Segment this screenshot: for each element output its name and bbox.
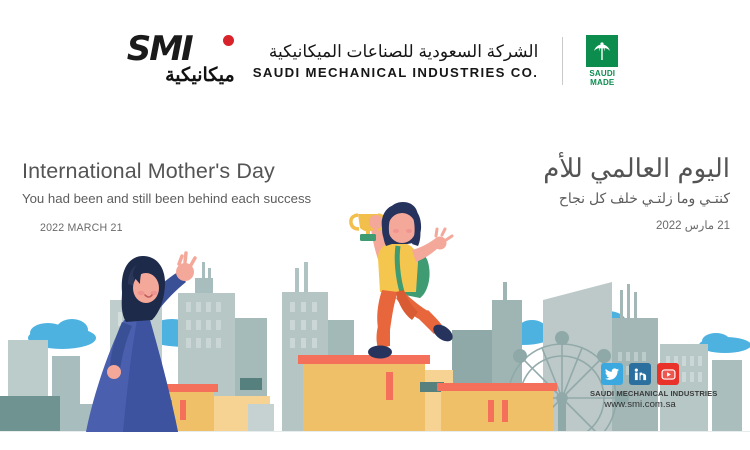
antenna [304,262,308,294]
social-website[interactable]: www.smi.com.sa [590,399,690,410]
antenna [627,284,630,320]
saudi-made-badge: SAUDI MADE [581,35,623,87]
social-icon-row [590,363,690,385]
company-name-block: الشركة السعودية للصناعات الميكانيكية SAU… [247,41,551,82]
building [303,362,425,432]
antenna [634,292,637,320]
window-group [386,372,393,400]
social-block: SAUDI MECHANICAL INDUSTRIES www.smi.com.… [590,363,690,410]
twitter-icon[interactable] [601,363,623,385]
smi-logo-text: SMI [127,33,235,66]
smi-logo-arabic: ميكانيكية [127,64,235,88]
palm-tree-icon [586,35,618,67]
saudi-made-line1: SAUDI [589,69,615,78]
saudi-made-line2: MADE [590,78,614,87]
header-divider [562,37,563,85]
antenna [202,262,205,282]
social-company-name: SAUDI MECHANICAL INDUSTRIES [590,389,690,398]
roof [298,355,430,364]
antenna [295,268,299,294]
building [0,396,60,432]
english-text-block: International Mother's Day You had been … [22,158,352,234]
smi-logo-mark: SMI ميكانيكية [127,33,235,89]
poster-canvas: SMI ميكانيكية الشركة السعودية للصناعات ا… [0,0,750,450]
smi-logo-dot [223,35,234,46]
company-name-english: SAUDI MECHANICAL INDUSTRIES CO. [253,64,539,82]
antenna [620,290,623,320]
english-title: International Mother's Day [22,158,352,184]
english-date: 2022 MARCH 21 [40,222,352,234]
arabic-date: 21 مارس 2022 [400,218,730,232]
english-subtitle: You had been and still been behind each … [22,190,352,208]
roof [437,383,557,391]
brand-header: SMI ميكانيكية الشركة السعودية للصناعات ا… [0,30,750,92]
building [441,390,553,432]
building [248,404,274,432]
antenna [208,268,211,284]
saudi-made-label: SAUDI MADE [589,69,615,87]
youtube-icon[interactable] [657,363,679,385]
rooftop-unit [240,378,262,390]
antenna [503,282,507,302]
linkedin-icon[interactable] [629,363,651,385]
arabic-text-block: اليوم العالمي للأم كنتـي وما زلتـي خلف ك… [400,152,730,232]
arabic-subtitle: كنتـي وما زلتـي خلف كل نجاح [400,188,730,208]
company-name-arabic: الشركة السعودية للصناعات الميكانيكية [253,41,539,63]
window-group [290,302,317,348]
bottom-white-band [0,432,750,450]
arabic-title: اليوم العالمي للأم [400,152,730,184]
